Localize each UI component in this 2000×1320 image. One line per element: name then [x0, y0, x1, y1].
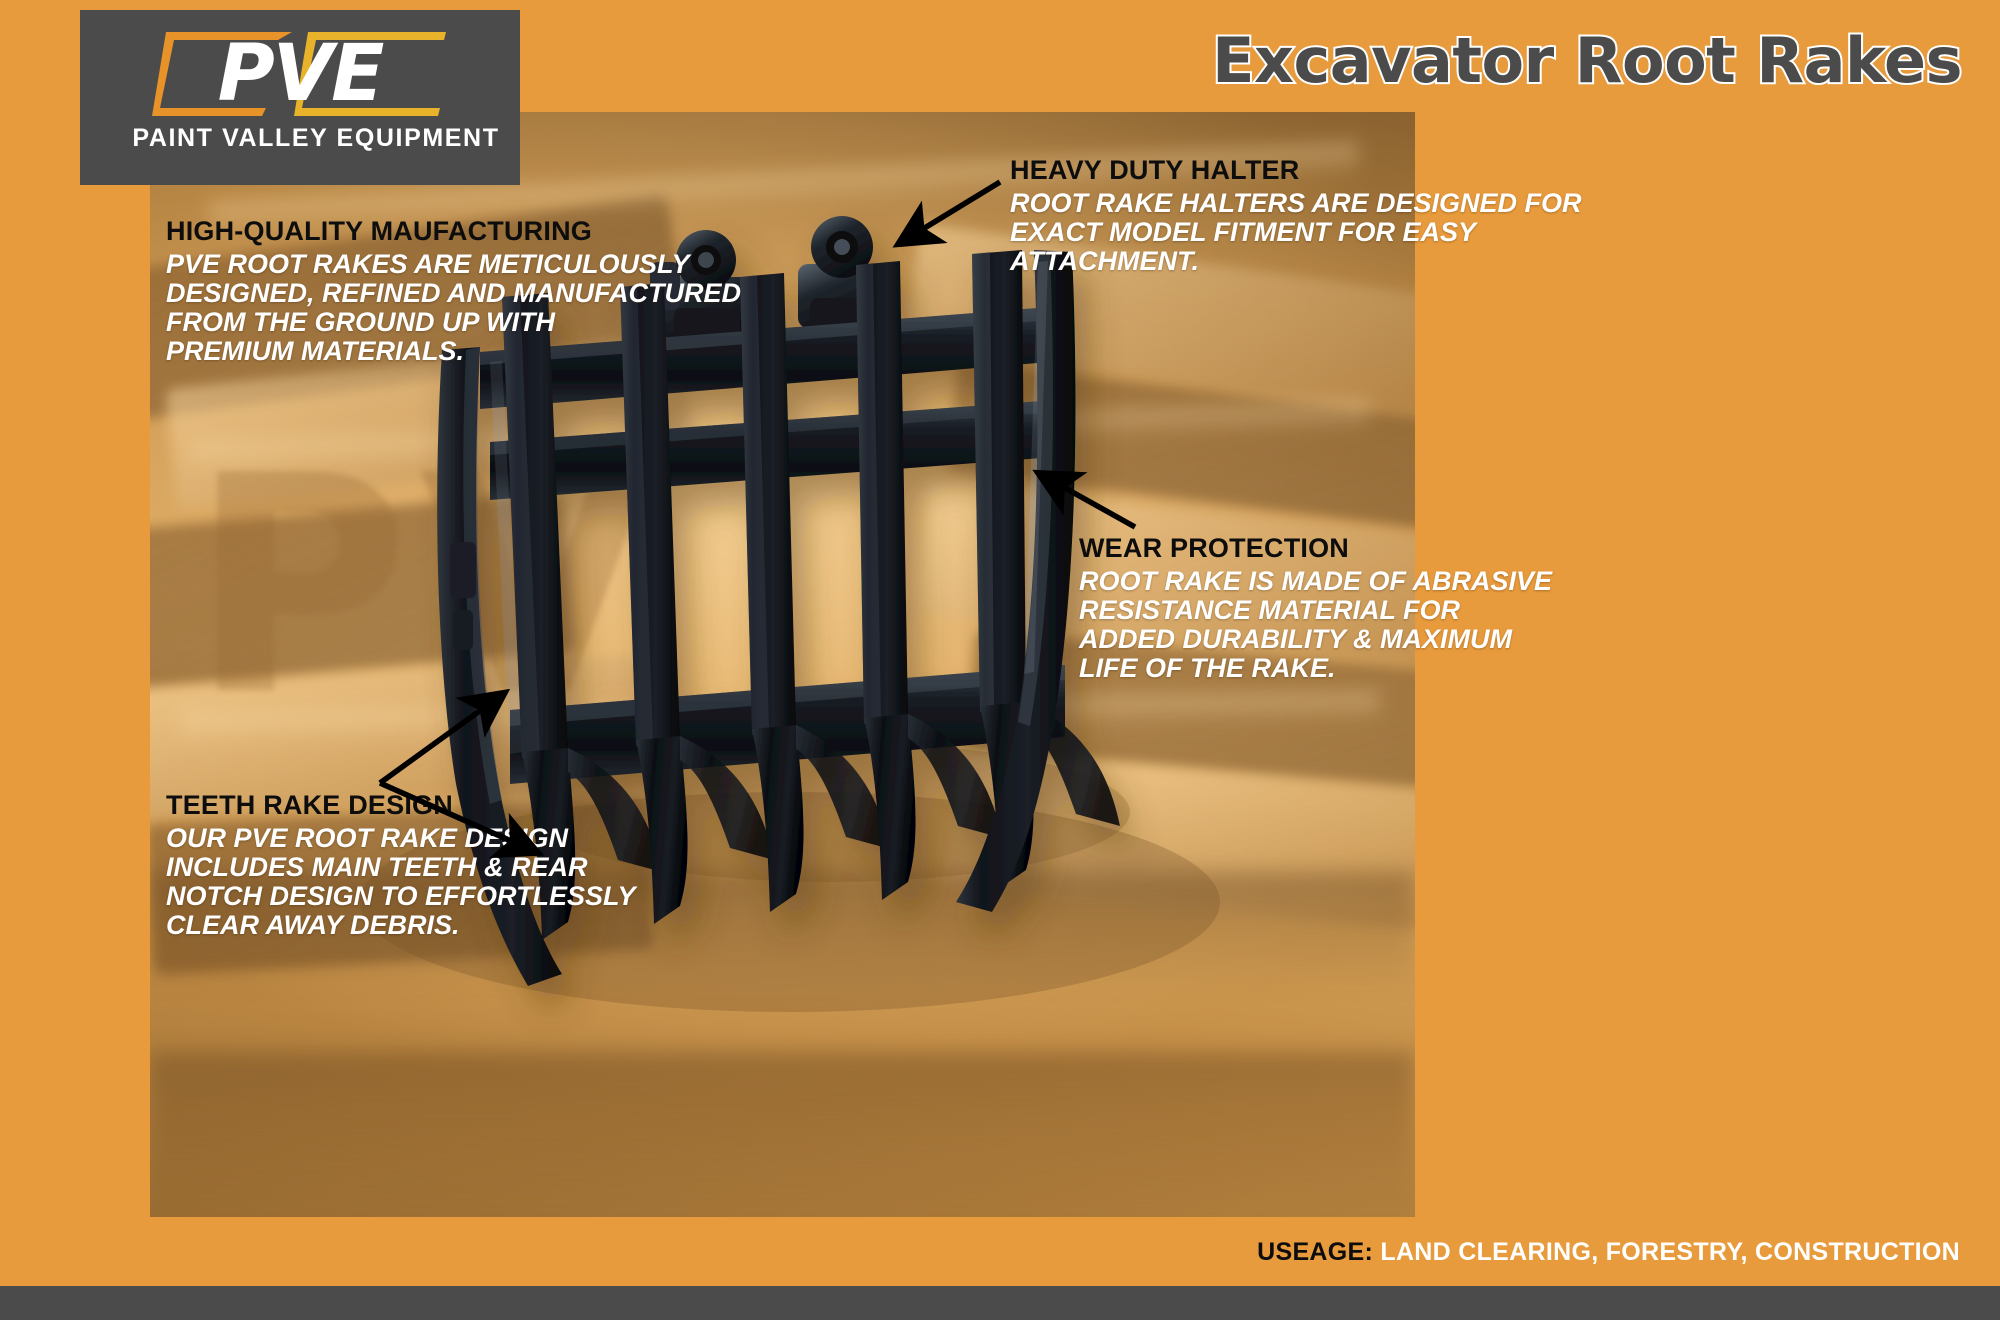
callout-body: OUR PVE ROOT RAKE DESIGN INCLUDES MAIN T… [166, 824, 636, 940]
page-title: Excavator Root Rakes [1212, 24, 1962, 97]
usage-label: USEAGE: [1257, 1238, 1373, 1266]
pve-logo-mark: PVE [150, 26, 450, 122]
callout-body: ROOT RAKE HALTERS ARE DESIGNED FOR EXACT… [1010, 189, 1582, 276]
callout-body-line: PREMIUM MATERIALS. [166, 337, 741, 366]
callout-teeth-rake-design: TEETH RAKE DESIGN OUR PVE ROOT RAKE DESI… [166, 790, 636, 940]
usage-footer: USEAGE: LAND CLEARING, FORESTRY, CONSTRU… [1257, 1238, 1960, 1267]
side-lug [450, 542, 476, 598]
bottom-bar [0, 1286, 2000, 1320]
infographic-page: PV [0, 0, 2000, 1320]
callout-heading: WEAR PROTECTION [1079, 533, 1552, 564]
callout-body-line: OUR PVE ROOT RAKE DESIGN [166, 824, 636, 853]
callout-body-line: EXACT MODEL FITMENT FOR EASY [1010, 218, 1582, 247]
callout-body-line: DESIGNED, REFINED AND MANUFACTURED [166, 279, 741, 308]
callout-body-line: RESISTANCE MATERIAL FOR [1079, 596, 1552, 625]
callout-body-line: PVE ROOT RAKES ARE METICULOUSLY [166, 250, 741, 279]
callout-body-line: LIFE OF THE RAKE. [1079, 654, 1552, 683]
callout-high-quality-manufacturing: HIGH-QUALITY MAUFACTURING PVE ROOT RAKES… [166, 216, 741, 366]
brand-logo-box: PVE PAINT VALLEY EQUIPMENT [80, 10, 520, 185]
callout-body-line: CLEAR AWAY DEBRIS. [166, 911, 636, 940]
svg-text:PVE: PVE [218, 29, 385, 119]
callout-heading: HEAVY DUTY HALTER [1010, 155, 1582, 186]
side-lug [453, 610, 473, 650]
callout-heavy-duty-halter: HEAVY DUTY HALTER ROOT RAKE HALTERS ARE … [1010, 155, 1582, 276]
callout-body-line: ADDED DURABILITY & MAXIMUM [1079, 625, 1552, 654]
logo-tagline: PAINT VALLEY EQUIPMENT [80, 124, 520, 153]
callout-body: ROOT RAKE IS MADE OF ABRASIVE RESISTANCE… [1079, 567, 1552, 683]
callout-body-line: ROOT RAKE HALTERS ARE DESIGNED FOR [1010, 189, 1582, 218]
callout-wear-protection: WEAR PROTECTION ROOT RAKE IS MADE OF ABR… [1079, 533, 1552, 683]
callout-body: PVE ROOT RAKES ARE METICULOUSLY DESIGNED… [166, 250, 741, 366]
usage-value: LAND CLEARING, FORESTRY, CONSTRUCTION [1380, 1238, 1960, 1266]
callout-heading: TEETH RAKE DESIGN [166, 790, 636, 821]
callout-body-line: ATTACHMENT. [1010, 247, 1582, 276]
callout-body-line: NOTCH DESIGN TO EFFORTLESSLY [166, 882, 636, 911]
callout-body-line: INCLUDES MAIN TEETH & REAR [166, 853, 636, 882]
callout-heading: HIGH-QUALITY MAUFACTURING [166, 216, 741, 247]
callout-body-line: ROOT RAKE IS MADE OF ABRASIVE [1079, 567, 1552, 596]
callout-body-line: FROM THE GROUND UP WITH [166, 308, 741, 337]
